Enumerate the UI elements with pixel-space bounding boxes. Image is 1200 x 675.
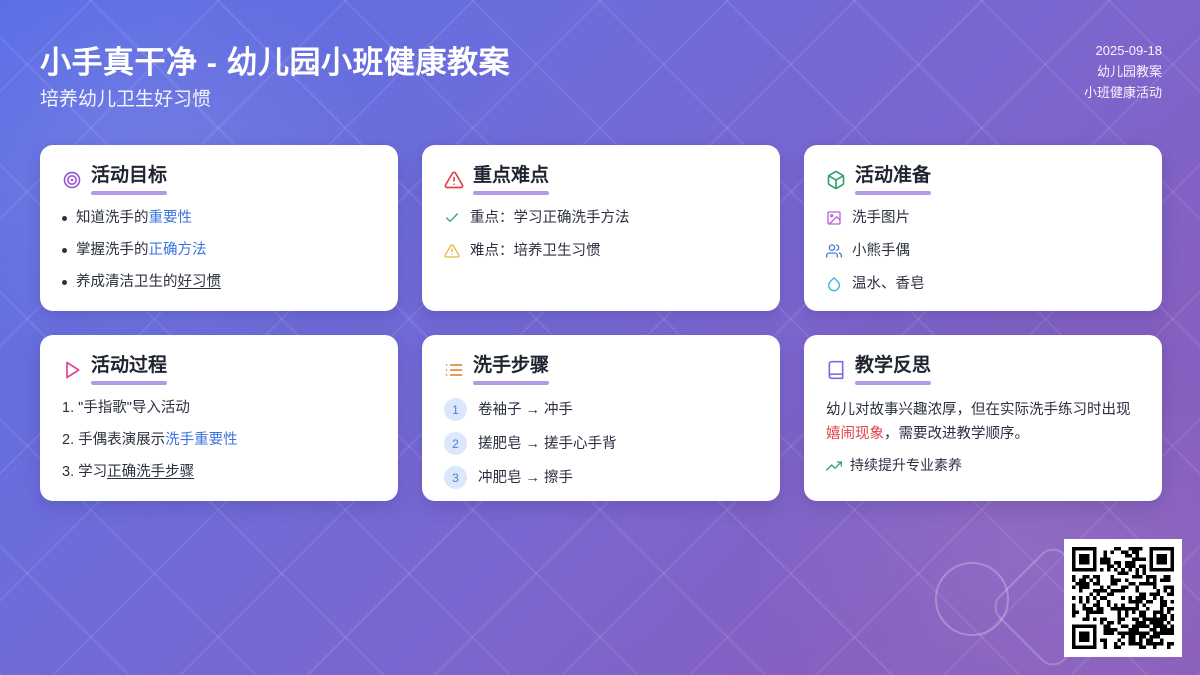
card-title-wrap: 活动过程: [91, 355, 167, 385]
qr-code-canvas: [1072, 547, 1174, 649]
step-badge: 2: [444, 432, 467, 455]
list-item: 难点：培养卫生习惯: [444, 241, 758, 261]
card-title-wrap: 重点难点: [473, 165, 549, 195]
card-title: 活动目标: [91, 165, 167, 186]
warning-icon: [444, 243, 460, 259]
card-title: 活动过程: [91, 355, 167, 376]
list-item: 2 搓肥皂 → 搓手心手背: [444, 432, 758, 455]
list-item: 3 冲肥皂 → 擦手: [444, 466, 758, 489]
card-title-wrap: 活动准备: [855, 165, 931, 195]
image-icon: [826, 210, 842, 226]
card-header: 活动准备: [826, 165, 1140, 195]
card-title: 活动准备: [855, 165, 931, 186]
title-underline: [473, 381, 549, 385]
card-body: 1 卷袖子 → 冲手 2 搓肥皂 → 搓手心手背 3 冲肥皂 → 擦手: [444, 398, 758, 489]
list-icon: [444, 360, 464, 380]
list-item-text: 温水、香皂: [852, 274, 925, 294]
card-title: 重点难点: [473, 165, 549, 186]
title-underline: [473, 191, 549, 195]
card-title-wrap: 活动目标: [91, 165, 167, 195]
card-header: 活动过程: [62, 355, 376, 385]
bullet-dot: [62, 248, 67, 253]
highlighted-text: 洗手重要性: [165, 432, 238, 448]
list-item-text: 养成清洁卫生的好习惯: [76, 272, 221, 292]
play-icon: [62, 360, 82, 380]
card-body: 洗手图片 小熊手偶 温水、香皂: [826, 208, 1140, 294]
list-item-text: 洗手图片: [852, 208, 910, 228]
page-subtitle: 培养幼儿卫生好习惯: [40, 84, 211, 111]
highlighted-text: 嬉闹现象: [826, 426, 884, 442]
step-badge: 3: [444, 466, 467, 489]
list-item: 1. "手指歌"导入活动: [62, 398, 376, 418]
card-handwashing-steps: 洗手步骤 1 卷袖子 → 冲手 2 搓肥皂 → 搓手心手背 3 冲肥皂 → 擦手: [422, 335, 780, 501]
card-title: 教学反思: [855, 355, 931, 376]
book-icon: [826, 360, 846, 380]
list-item-text: 冲肥皂 → 擦手: [478, 468, 573, 488]
page-header: 小手真干净 - 幼儿园小班健康教案 培养幼儿卫生好习惯 2025-09-18 幼…: [0, 0, 1200, 135]
list-item-text: 手偶表演展示洗手重要性: [78, 430, 238, 450]
page-title: 小手真干净 - 幼儿园小班健康教案: [40, 37, 510, 82]
list-item-text: 难点：培养卫生习惯: [470, 241, 601, 261]
card-header: 洗手步骤: [444, 355, 758, 385]
list-item-text: 学习正确洗手步骤: [78, 462, 194, 482]
card-title-wrap: 洗手步骤: [473, 355, 549, 385]
header-meta-date: 2025-09-18: [1084, 40, 1162, 61]
list-item: 3. 学习正确洗手步骤: [62, 462, 376, 482]
list-item-number: 3.: [62, 462, 74, 482]
list-item: 掌握洗手的正确方法: [62, 240, 376, 260]
list-item: 2. 手偶表演展示洗手重要性: [62, 430, 376, 450]
reflection-text: 幼儿对故事兴趣浓厚，但在实际洗手练习时出现嬉闹现象，需要改进教学顺序。: [826, 398, 1140, 446]
list-item-text: 知道洗手的重要性: [76, 208, 192, 228]
card-title-wrap: 教学反思: [855, 355, 931, 385]
reflection-footer: 持续提升专业素养: [826, 455, 1140, 475]
list-item-text: 搓肥皂 → 搓手心手背: [478, 434, 617, 454]
highlighted-text: 正确洗手步骤: [107, 464, 194, 480]
target-icon: [62, 170, 82, 190]
highlighted-text: 重要性: [149, 210, 193, 226]
list-item: 重点：学习正确洗手方法: [444, 208, 758, 228]
header-meta-category: 幼儿园教案: [1084, 61, 1162, 82]
list-item: 温水、香皂: [826, 274, 1140, 294]
qr-code[interactable]: [1064, 539, 1182, 657]
card-header: 活动目标: [62, 165, 376, 195]
highlighted-text: 好习惯: [178, 274, 222, 290]
card-activity-goals: 活动目标 知道洗手的重要性 掌握洗手的正确方法 养成清洁卫生的好习惯: [40, 145, 398, 311]
step-badge: 1: [444, 398, 467, 421]
list-item-number: 1.: [62, 398, 74, 418]
card-header: 重点难点: [444, 165, 758, 195]
header-meta: 2025-09-18 幼儿园教案 小班健康活动: [1084, 40, 1162, 103]
list-item-text: 小熊手偶: [852, 241, 910, 261]
droplet-icon: [826, 276, 842, 292]
list-item-text: "手指歌"导入活动: [78, 398, 190, 418]
list-item-text: 重点：学习正确洗手方法: [470, 208, 630, 228]
list-item-text: 卷袖子 → 冲手: [478, 400, 573, 420]
trending-up-icon: [826, 458, 842, 474]
bullet-dot: [62, 280, 67, 285]
card-header: 教学反思: [826, 355, 1140, 385]
card-body: 知道洗手的重要性 掌握洗手的正确方法 养成清洁卫生的好习惯: [62, 208, 376, 292]
list-item-text: 掌握洗手的正确方法: [76, 240, 207, 260]
card-key-difficulties: 重点难点 重点：学习正确洗手方法 难点：培养卫生习惯: [422, 145, 780, 311]
list-item: 养成清洁卫生的好习惯: [62, 272, 376, 292]
title-underline: [91, 381, 167, 385]
card-body: 幼儿对故事兴趣浓厚，但在实际洗手练习时出现嬉闹现象，需要改进教学顺序。 持续提升…: [826, 398, 1140, 475]
check-icon: [444, 210, 460, 226]
card-grid: 活动目标 知道洗手的重要性 掌握洗手的正确方法 养成清洁卫生的好习惯 重点难点 …: [40, 145, 1162, 501]
header-meta-activity: 小班健康活动: [1084, 82, 1162, 103]
list-item: 知道洗手的重要性: [62, 208, 376, 228]
card-title: 洗手步骤: [473, 355, 549, 376]
card-activity-process: 活动过程 1. "手指歌"导入活动 2. 手偶表演展示洗手重要性 3. 学习正确…: [40, 335, 398, 501]
title-underline: [855, 191, 931, 195]
list-item: 小熊手偶: [826, 241, 1140, 261]
list-item: 1 卷袖子 → 冲手: [444, 398, 758, 421]
title-underline: [855, 381, 931, 385]
bullet-dot: [62, 216, 67, 221]
box-icon: [826, 170, 846, 190]
reflection-footer-text: 持续提升专业素养: [850, 455, 962, 475]
users-icon: [826, 243, 842, 259]
card-activity-preparation: 活动准备 洗手图片 小熊手偶 温水、香皂: [804, 145, 1162, 311]
card-body: 重点：学习正确洗手方法 难点：培养卫生习惯: [444, 208, 758, 261]
list-item-number: 2.: [62, 430, 74, 450]
title-underline: [91, 191, 167, 195]
card-body: 1. "手指歌"导入活动 2. 手偶表演展示洗手重要性 3. 学习正确洗手步骤: [62, 398, 376, 482]
alert-triangle-icon: [444, 170, 464, 190]
list-item: 洗手图片: [826, 208, 1140, 228]
highlighted-text: 正确方法: [149, 242, 207, 258]
card-teaching-reflection: 教学反思 幼儿对故事兴趣浓厚，但在实际洗手练习时出现嬉闹现象，需要改进教学顺序。…: [804, 335, 1162, 501]
